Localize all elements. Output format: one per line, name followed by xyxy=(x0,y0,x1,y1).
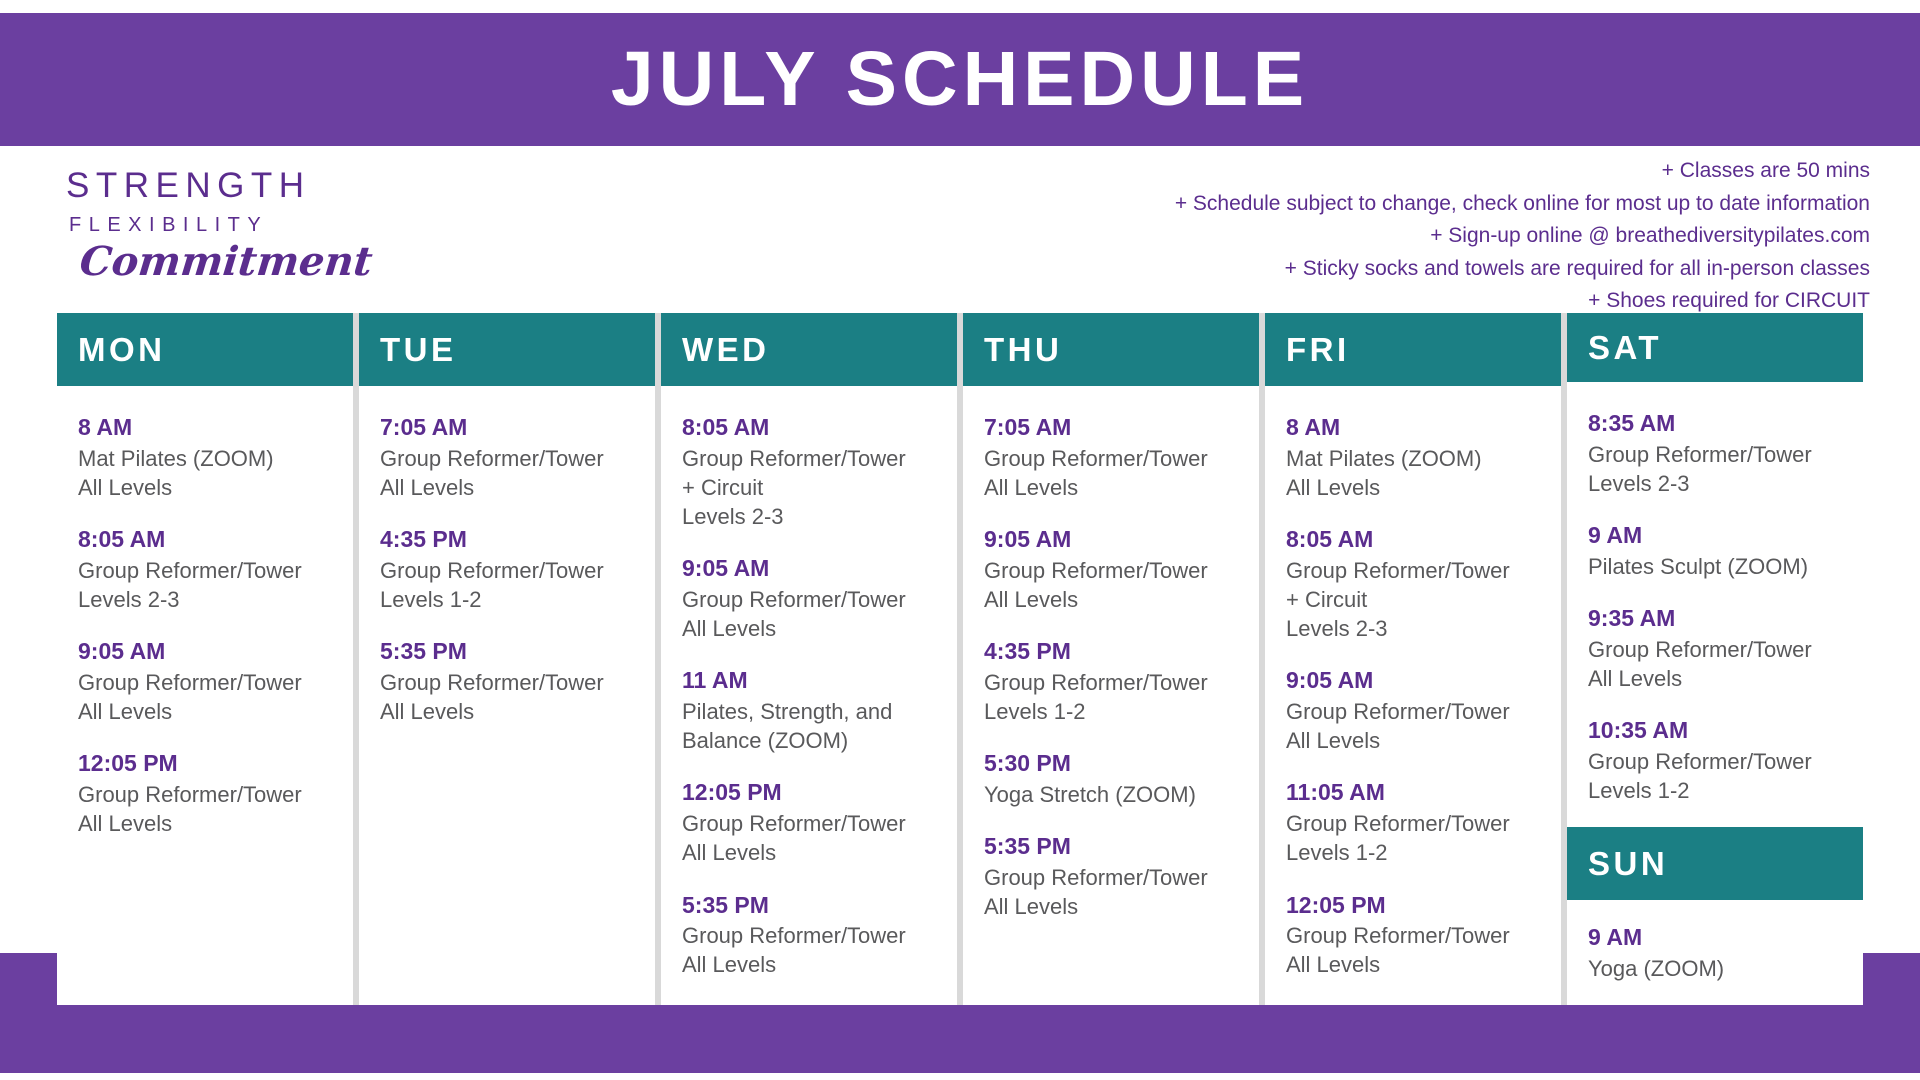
day-header-label: MON xyxy=(78,333,166,366)
class-time: 4:35 PM xyxy=(984,636,1245,667)
class-entry[interactable]: 8 AMMat Pilates (ZOOM) All Levels xyxy=(78,412,339,502)
class-entry[interactable]: 8:35 AMGroup Reformer/Tower Levels 2-3 xyxy=(1588,408,1849,498)
class-entry[interactable]: 9:05 AMGroup Reformer/Tower All Levels xyxy=(1286,665,1547,755)
class-description: Group Reformer/Tower + Circuit Levels 2-… xyxy=(1286,556,1547,644)
class-time: 9:35 AM xyxy=(1588,603,1849,634)
class-entry[interactable]: 12:05 PMGroup Reformer/Tower All Levels xyxy=(682,777,943,867)
note-line: + Sign-up online @ breathediversitypilat… xyxy=(1175,220,1870,253)
class-description: Group Reformer/Tower All Levels xyxy=(682,921,943,980)
day-header-mon[interactable]: MON xyxy=(57,313,353,386)
day-body-fri: 8 AMMat Pilates (ZOOM) All Levels8:05 AM… xyxy=(1265,386,1561,1005)
class-time: 8:35 AM xyxy=(1588,408,1849,439)
class-description: Group Reformer/Tower Levels 1-2 xyxy=(380,556,641,615)
logo-line-strength: STRENGTH xyxy=(66,168,366,205)
day-body-sat: 8:35 AMGroup Reformer/Tower Levels 2-39 … xyxy=(1567,382,1863,1005)
class-entry[interactable]: 5:35 PMGroup Reformer/Tower All Levels xyxy=(984,831,1245,921)
class-entry[interactable]: 9 AMPilates Sculpt (ZOOM) xyxy=(1588,520,1849,581)
day-header-label: FRI xyxy=(1286,333,1350,366)
class-entry[interactable]: 4:35 PMGroup Reformer/Tower Levels 1-2 xyxy=(984,636,1245,726)
class-time: 9:05 AM xyxy=(682,553,943,584)
class-entry[interactable]: 9 AMYoga (ZOOM) xyxy=(1588,922,1849,983)
class-time: 9 AM xyxy=(1588,922,1849,953)
day-body-sun: 9 AMYoga (ZOOM) xyxy=(1567,900,1863,983)
class-description: Group Reformer/Tower All Levels xyxy=(984,444,1245,503)
calendar-grid: MON8 AMMat Pilates (ZOOM) All Levels8:05… xyxy=(57,313,1863,1005)
class-entry[interactable]: 11 AMPilates, Strength, and Balance (ZOO… xyxy=(682,665,943,755)
day-header-fri[interactable]: FRI xyxy=(1265,313,1561,386)
class-entry[interactable]: 11:05 AMGroup Reformer/Tower Levels 1-2 xyxy=(1286,777,1547,867)
note-line: + Classes are 50 mins xyxy=(1175,155,1870,188)
day-header-thu[interactable]: THU xyxy=(963,313,1259,386)
class-description: Group Reformer/Tower All Levels xyxy=(78,668,339,727)
class-time: 5:35 PM xyxy=(682,890,943,921)
class-description: Yoga Stretch (ZOOM) xyxy=(984,780,1245,809)
class-time: 12:05 PM xyxy=(682,777,943,808)
class-entry[interactable]: 5:35 PMGroup Reformer/Tower All Levels xyxy=(682,890,943,980)
day-column-sat: SAT8:35 AMGroup Reformer/Tower Levels 2-… xyxy=(1567,313,1863,1005)
class-time: 12:05 PM xyxy=(1286,890,1547,921)
day-header-sat[interactable]: SAT xyxy=(1567,313,1863,382)
class-description: Group Reformer/Tower All Levels xyxy=(1588,635,1849,694)
class-entry[interactable]: 5:35 PMGroup Reformer/Tower All Levels xyxy=(380,636,641,726)
page-title: JULY SCHEDULE xyxy=(611,41,1309,118)
class-description: Group Reformer/Tower All Levels xyxy=(78,780,339,839)
class-entry[interactable]: 10:35 AMGroup Reformer/Tower Levels 1-2 xyxy=(1588,715,1849,805)
header-band: JULY SCHEDULE xyxy=(0,13,1920,146)
day-header-label: TUE xyxy=(380,333,457,366)
class-entry[interactable]: 9:05 AMGroup Reformer/Tower All Levels xyxy=(682,553,943,643)
note-line: + Sticky socks and towels are required f… xyxy=(1175,253,1870,286)
day-header-sun[interactable]: SUN xyxy=(1567,827,1863,900)
day-body-mon: 8 AMMat Pilates (ZOOM) All Levels8:05 AM… xyxy=(57,386,353,1005)
class-time: 9:05 AM xyxy=(78,636,339,667)
day-column-tue: TUE7:05 AMGroup Reformer/Tower All Level… xyxy=(359,313,655,1005)
class-entry[interactable]: 4:35 PMGroup Reformer/Tower Levels 1-2 xyxy=(380,524,641,614)
class-description: Group Reformer/Tower Levels 1-2 xyxy=(984,668,1245,727)
class-time: 8:05 AM xyxy=(682,412,943,443)
day-header-label: WED xyxy=(682,333,770,366)
class-entry[interactable]: 8 AMMat Pilates (ZOOM) All Levels xyxy=(1286,412,1547,502)
day-header-label: THU xyxy=(984,333,1062,366)
class-description: Group Reformer/Tower All Levels xyxy=(682,585,943,644)
day-body-tue: 7:05 AMGroup Reformer/Tower All Levels4:… xyxy=(359,386,655,1005)
class-description: Group Reformer/Tower Levels 1-2 xyxy=(1588,747,1849,806)
logo-line-flexibility: FLEXIBILITY xyxy=(69,214,366,236)
class-description: Group Reformer/Tower Levels 1-2 xyxy=(1286,809,1547,868)
day-column-fri: FRI8 AMMat Pilates (ZOOM) All Levels8:05… xyxy=(1265,313,1561,1005)
class-time: 9 AM xyxy=(1588,520,1849,551)
class-entry[interactable]: 9:05 AMGroup Reformer/Tower All Levels xyxy=(78,636,339,726)
class-time: 5:30 PM xyxy=(984,748,1245,779)
class-entry[interactable]: 12:05 PMGroup Reformer/Tower All Levels xyxy=(78,748,339,838)
class-entry[interactable]: 8:05 AMGroup Reformer/Tower Levels 2-3 xyxy=(78,524,339,614)
day-column-wed: WED8:05 AMGroup Reformer/Tower + Circuit… xyxy=(661,313,957,1005)
class-description: Group Reformer/Tower + Circuit Levels 2-… xyxy=(682,444,943,532)
class-description: Yoga (ZOOM) xyxy=(1588,954,1849,983)
class-description: Group Reformer/Tower All Levels xyxy=(984,863,1245,922)
class-description: Group Reformer/Tower All Levels xyxy=(1286,697,1547,756)
class-description: Group Reformer/Tower All Levels xyxy=(984,556,1245,615)
class-entry[interactable]: 12:05 PMGroup Reformer/Tower All Levels xyxy=(1286,890,1547,980)
note-line: + Schedule subject to change, check onli… xyxy=(1175,188,1870,221)
day-body-thu: 7:05 AMGroup Reformer/Tower All Levels9:… xyxy=(963,386,1259,1005)
class-description: Group Reformer/Tower All Levels xyxy=(380,668,641,727)
day-body-wed: 8:05 AMGroup Reformer/Tower + Circuit Le… xyxy=(661,386,957,1005)
class-entry[interactable]: 7:05 AMGroup Reformer/Tower All Levels xyxy=(380,412,641,502)
class-time: 10:35 AM xyxy=(1588,715,1849,746)
class-time: 11 AM xyxy=(682,665,943,696)
class-description: Pilates, Strength, and Balance (ZOOM) xyxy=(682,697,943,756)
class-entry[interactable]: 8:05 AMGroup Reformer/Tower + Circuit Le… xyxy=(1286,524,1547,643)
class-time: 7:05 AM xyxy=(380,412,641,443)
class-description: Mat Pilates (ZOOM) All Levels xyxy=(1286,444,1547,503)
class-time: 11:05 AM xyxy=(1286,777,1547,808)
class-time: 8 AM xyxy=(1286,412,1547,443)
day-column-sun: SUN9 AMYoga (ZOOM) xyxy=(1567,827,1863,983)
class-description: Group Reformer/Tower Levels 2-3 xyxy=(78,556,339,615)
class-description: Group Reformer/Tower All Levels xyxy=(682,809,943,868)
class-description: Group Reformer/Tower All Levels xyxy=(1286,921,1547,980)
class-time: 8 AM xyxy=(78,412,339,443)
class-time: 4:35 PM xyxy=(380,524,641,555)
class-entry[interactable]: 8:05 AMGroup Reformer/Tower + Circuit Le… xyxy=(682,412,943,531)
day-header-wed[interactable]: WED xyxy=(661,313,957,386)
class-time: 8:05 AM xyxy=(78,524,339,555)
class-entry[interactable]: 9:05 AMGroup Reformer/Tower All Levels xyxy=(984,524,1245,614)
class-time: 12:05 PM xyxy=(78,748,339,779)
day-column-mon: MON8 AMMat Pilates (ZOOM) All Levels8:05… xyxy=(57,313,353,1005)
class-time: 8:05 AM xyxy=(1286,524,1547,555)
day-column-thu: THU7:05 AMGroup Reformer/Tower All Level… xyxy=(963,313,1259,1005)
day-header-tue[interactable]: TUE xyxy=(359,313,655,386)
day-header-label: SAT xyxy=(1588,331,1662,364)
class-description: Pilates Sculpt (ZOOM) xyxy=(1588,552,1849,581)
class-entry[interactable]: 7:05 AMGroup Reformer/Tower All Levels xyxy=(984,412,1245,502)
class-time: 9:05 AM xyxy=(1286,665,1547,696)
class-description: Group Reformer/Tower All Levels xyxy=(380,444,641,503)
logo-line-commitment: Commitment xyxy=(78,242,368,282)
class-entry[interactable]: 5:30 PMYoga Stretch (ZOOM) xyxy=(984,748,1245,809)
class-time: 5:35 PM xyxy=(380,636,641,667)
class-time: 9:05 AM xyxy=(984,524,1245,555)
class-time: 5:35 PM xyxy=(984,831,1245,862)
class-description: Mat Pilates (ZOOM) All Levels xyxy=(78,444,339,503)
class-description: Group Reformer/Tower Levels 2-3 xyxy=(1588,440,1849,499)
class-time: 7:05 AM xyxy=(984,412,1245,443)
notes-list: + Classes are 50 mins+ Schedule subject … xyxy=(1175,155,1870,318)
schedule-page: JULY SCHEDULE STRENGTH FLEXIBILITY Commi… xyxy=(0,0,1920,1080)
brand-logo: STRENGTH FLEXIBILITY Commitment xyxy=(66,168,366,282)
class-entry[interactable]: 9:35 AMGroup Reformer/Tower All Levels xyxy=(1588,603,1849,693)
day-header-label: SUN xyxy=(1588,847,1668,880)
